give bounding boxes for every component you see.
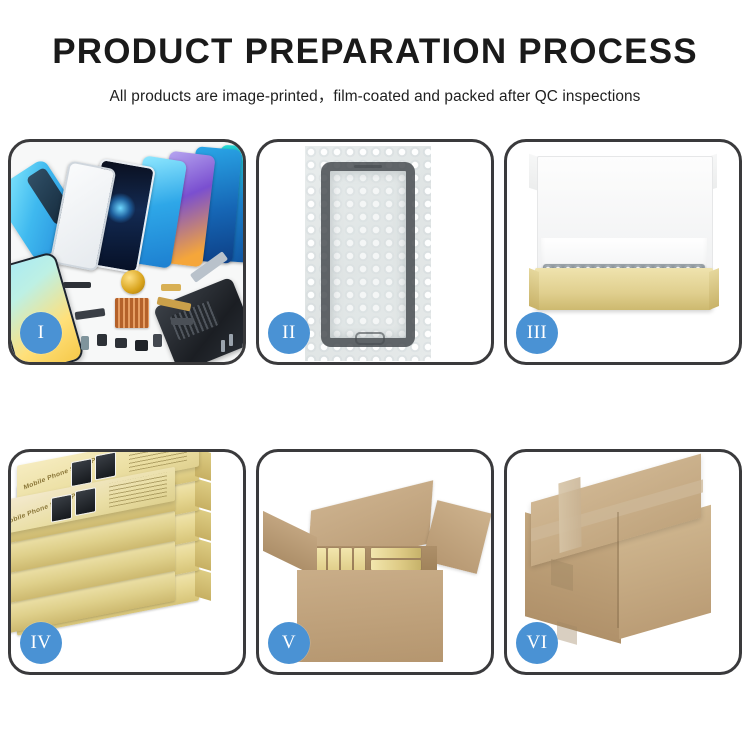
step-badge-6: VI [516,622,558,664]
small-part-1 [97,334,107,346]
box-artwork-screen-2 [95,452,116,481]
carton-vertical-edge [617,512,619,628]
small-part-2 [115,338,127,348]
steps-grid: I II III [8,139,742,675]
step-badge-3: III [516,312,558,354]
step-panel-3[interactable]: III [504,139,742,365]
carton-left-flap [263,511,317,577]
step-panel-4[interactable]: Mobile Phone Spare Parts Mobile Phone Sp… [8,449,246,675]
step-badge-1: I [20,312,62,354]
packed-box-5 [371,548,421,558]
earpiece-part [63,282,91,288]
sealing-tape-seam [558,477,581,553]
step-badge-5: V [268,622,310,664]
page-title: PRODUCT PREPARATION PROCESS [0,34,750,71]
phone-screen-fan [39,150,243,270]
wireless-charging-coil [121,270,145,294]
small-part-4 [153,334,162,347]
screw-1 [221,340,225,352]
kraft-box-tray [535,268,713,310]
small-part-6 [171,318,193,325]
carton-front-face [297,570,443,662]
bubble-wrap-sheet [305,146,431,361]
header: PRODUCT PREPARATION PROCESS All products… [0,0,750,106]
flex-cable-3 [161,284,181,291]
box-spec-lines-front [109,472,167,507]
small-part-5 [81,336,89,350]
step-badge-4: IV [20,622,62,664]
screw-2 [229,334,233,346]
wrapped-phone-screen [321,162,415,347]
packed-box-6 [371,560,421,570]
small-part-3 [135,340,148,351]
page-subtitle: All products are image-printed，film-coat… [0,84,750,106]
step-panel-6[interactable]: VI [504,449,742,675]
step-panel-1[interactable]: I [8,139,246,365]
step-panel-5[interactable]: V [256,449,494,675]
flex-cable-1 [75,308,106,320]
step-badge-2: II [268,312,310,354]
connector-grid-chip [115,298,149,328]
box-artwork-screen-3 [51,494,72,523]
product-preparation-infographic: PRODUCT PREPARATION PROCESS All products… [0,0,750,750]
box-artwork-screen-4 [75,487,96,516]
step-panel-2[interactable]: II [256,139,494,365]
